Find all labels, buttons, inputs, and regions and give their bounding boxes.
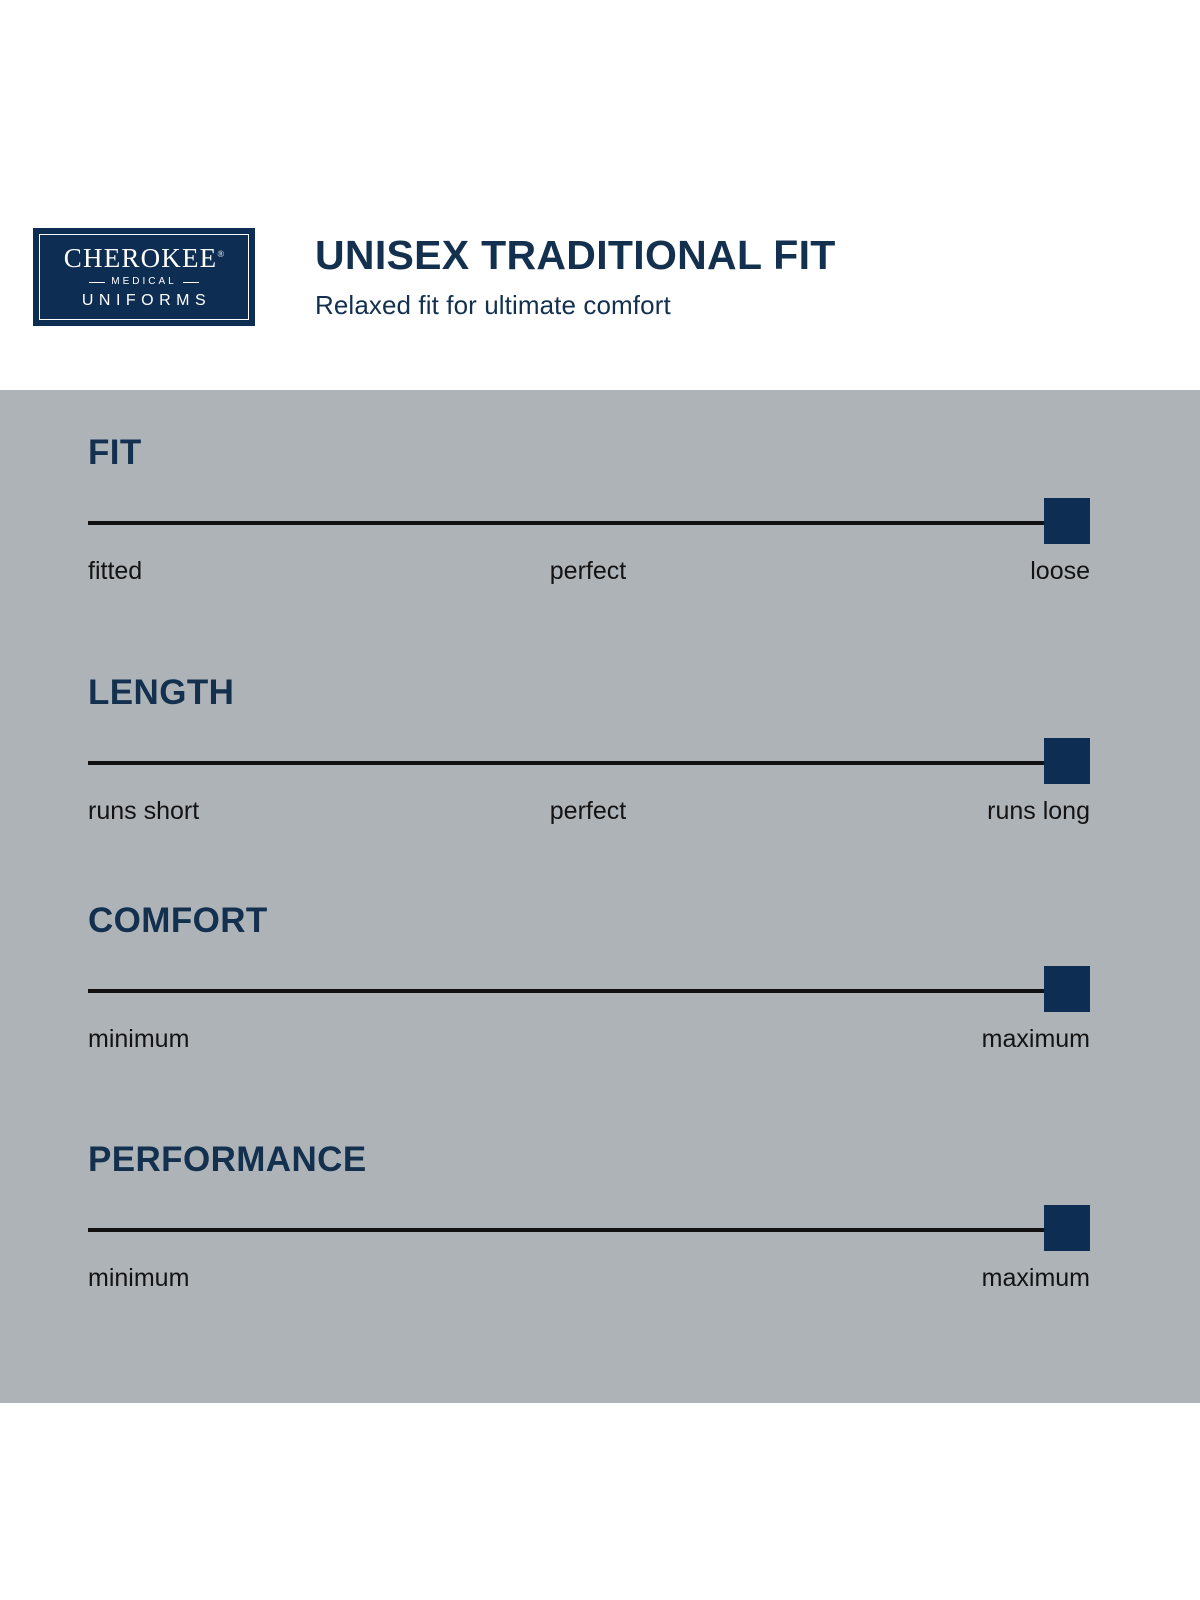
- scale-marker-length[interactable]: [1044, 738, 1090, 784]
- scale-heading-comfort: COMFORT: [88, 903, 1090, 938]
- scale-marker-performance[interactable]: [1044, 1205, 1090, 1251]
- scale-labels-fit: fitted perfect loose: [88, 556, 1090, 590]
- page-subtitle: Relaxed fit for ultimate comfort: [315, 291, 836, 320]
- track-line: [88, 521, 1090, 525]
- scale-fit: FIT fitted perfect loose: [88, 435, 1090, 590]
- scale-label-right: maximum: [982, 1024, 1090, 1054]
- logo-inner-border: CHEROKEE® MEDICAL UNIFORMS: [39, 234, 249, 320]
- scale-label-right: runs long: [987, 796, 1090, 826]
- scale-track-fit[interactable]: [88, 498, 1090, 546]
- scale-marker-fit[interactable]: [1044, 498, 1090, 544]
- fit-guide-page: CHEROKEE® MEDICAL UNIFORMS UNISEX TRADIT…: [0, 0, 1200, 1600]
- track-line: [88, 761, 1090, 765]
- registered-trademark-icon: ®: [217, 249, 224, 259]
- logo-medical-text: MEDICAL: [111, 277, 176, 287]
- scale-heading-fit: FIT: [88, 435, 1090, 470]
- scale-label-right: loose: [1030, 556, 1090, 586]
- track-line: [88, 989, 1090, 993]
- scale-track-performance[interactable]: [88, 1205, 1090, 1253]
- logo-uniforms-text: UNIFORMS: [77, 293, 211, 309]
- scale-marker-comfort[interactable]: [1044, 966, 1090, 1012]
- scale-label-left: runs short: [88, 796, 199, 826]
- scale-labels-comfort: minimum maximum: [88, 1024, 1090, 1058]
- scale-labels-length: runs short perfect runs long: [88, 796, 1090, 830]
- scale-performance: PERFORMANCE minimum maximum: [88, 1142, 1090, 1297]
- scale-heading-performance: PERFORMANCE: [88, 1142, 1090, 1177]
- logo-brand-text: CHEROKEE: [64, 243, 218, 273]
- cherokee-logo: CHEROKEE® MEDICAL UNIFORMS: [33, 228, 255, 326]
- logo-medical-row: MEDICAL: [89, 277, 198, 287]
- scale-label-mid: perfect: [550, 796, 626, 826]
- scale-track-length[interactable]: [88, 738, 1090, 786]
- page-header: CHEROKEE® MEDICAL UNIFORMS UNISEX TRADIT…: [0, 0, 1200, 390]
- scale-length: LENGTH runs short perfect runs long: [88, 675, 1090, 830]
- scale-heading-length: LENGTH: [88, 675, 1090, 710]
- scale-track-comfort[interactable]: [88, 966, 1090, 1014]
- logo-brand-name: CHEROKEE®: [64, 245, 224, 272]
- scale-label-left: fitted: [88, 556, 142, 586]
- track-line: [88, 1228, 1090, 1232]
- scale-label-mid: perfect: [550, 556, 626, 586]
- fit-scales-panel: FIT fitted perfect loose LENGTH runs sho…: [0, 390, 1200, 1403]
- scale-comfort: COMFORT minimum maximum: [88, 903, 1090, 1058]
- logo-rule-right-icon: [183, 282, 199, 283]
- logo-rule-left-icon: [89, 282, 105, 283]
- scale-label-left: minimum: [88, 1263, 189, 1293]
- scale-labels-performance: minimum maximum: [88, 1263, 1090, 1297]
- header-title-block: UNISEX TRADITIONAL FIT Relaxed fit for u…: [315, 234, 836, 320]
- page-title: UNISEX TRADITIONAL FIT: [315, 234, 836, 277]
- scale-label-left: minimum: [88, 1024, 189, 1054]
- scale-label-right: maximum: [982, 1263, 1090, 1293]
